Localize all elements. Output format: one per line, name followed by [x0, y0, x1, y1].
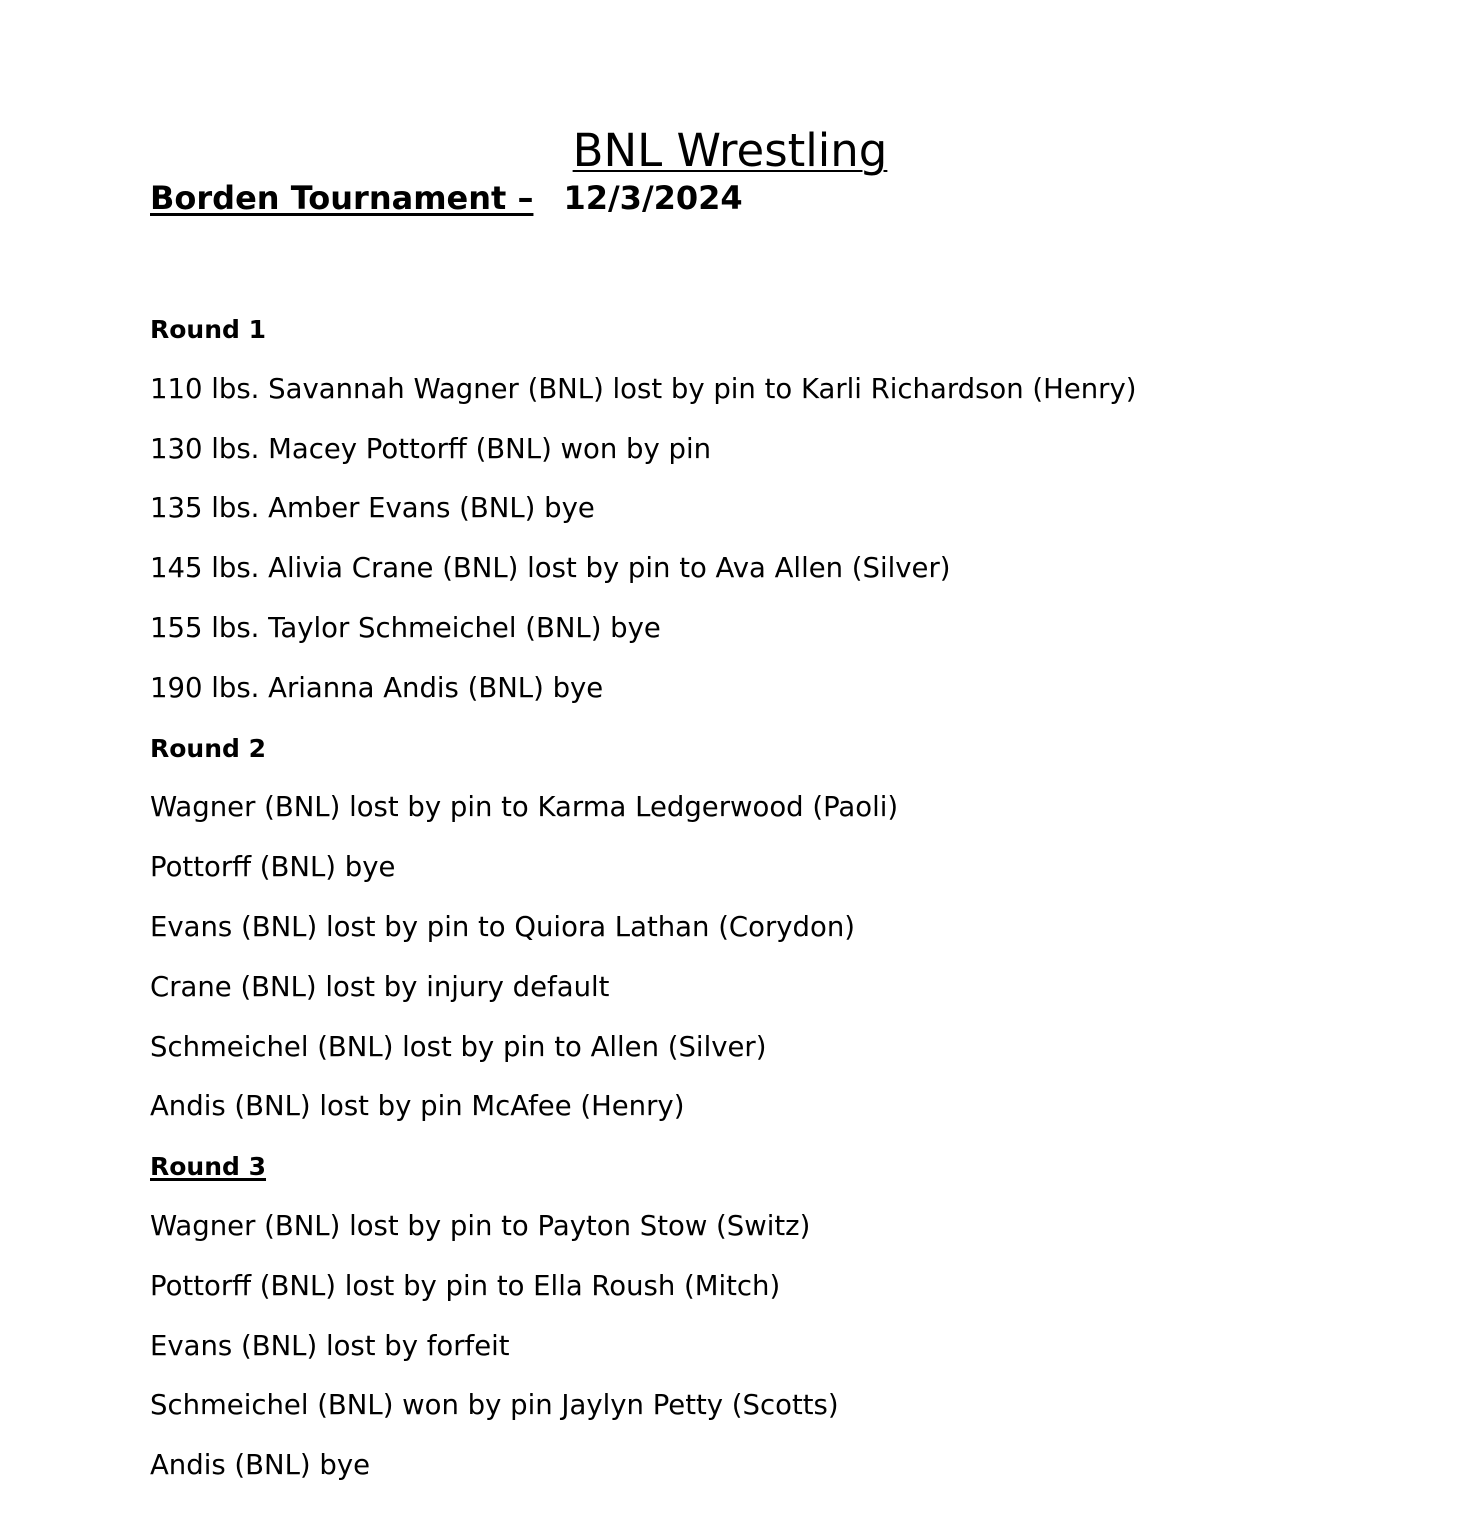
bout-line: Andis (BNL) lost by pin McAfee (Henry) — [150, 1077, 1390, 1137]
round-heading: Round 2 — [150, 719, 1390, 779]
document-page: BNL Wrestling Borden Tournament –12/3/20… — [0, 0, 1460, 1536]
bout-line: 130 lbs. Macey Pottorff (BNL) won by pin — [150, 420, 1390, 480]
bout-line: Schmeichel (BNL) won by pin Jaylyn Petty… — [150, 1376, 1390, 1436]
round-heading-label: Round 2 — [150, 734, 266, 763]
bout-line: Pottorff (BNL) lost by pin to Ella Roush… — [150, 1257, 1390, 1317]
bout-line: Evans (BNL) lost by forfeit — [150, 1317, 1390, 1377]
bout-line: Schmeichel (BNL) lost by pin to Allen (S… — [150, 1018, 1390, 1078]
bout-line: 190 lbs. Arianna Andis (BNL) bye — [150, 659, 1390, 719]
bout-line: Wagner (BNL) lost by pin to Karma Ledger… — [150, 778, 1390, 838]
subheading-event: Borden Tournament – — [150, 179, 533, 217]
round-heading-label: Round 1 — [150, 315, 266, 344]
round-heading-label: Round 3 — [150, 1152, 266, 1181]
rounds-container: Round 1110 lbs. Savannah Wagner (BNL) lo… — [150, 300, 1390, 1496]
bout-line: 145 lbs. Alivia Crane (BNL) lost by pin … — [150, 539, 1390, 599]
bout-line: Evans (BNL) lost by pin to Quiora Lathan… — [150, 898, 1390, 958]
bout-line: 135 lbs. Amber Evans (BNL) bye — [150, 479, 1390, 539]
bout-line: Andis (BNL) bye — [150, 1436, 1390, 1496]
bout-line: 155 lbs. Taylor Schmeichel (BNL) bye — [150, 599, 1390, 659]
round-heading: Round 1 — [150, 300, 1390, 360]
page-title: BNL Wrestling — [0, 128, 1460, 173]
subheading: Borden Tournament –12/3/2024 — [150, 182, 743, 214]
bout-line: 110 lbs. Savannah Wagner (BNL) lost by p… — [150, 360, 1390, 420]
subheading-date: 12/3/2024 — [563, 179, 742, 217]
bout-line: Pottorff (BNL) bye — [150, 838, 1390, 898]
round-heading: Round 3 — [150, 1137, 1390, 1197]
page-title-text: BNL Wrestling — [573, 124, 888, 177]
bout-line: Crane (BNL) lost by injury default — [150, 958, 1390, 1018]
bout-line: Wagner (BNL) lost by pin to Payton Stow … — [150, 1197, 1390, 1257]
